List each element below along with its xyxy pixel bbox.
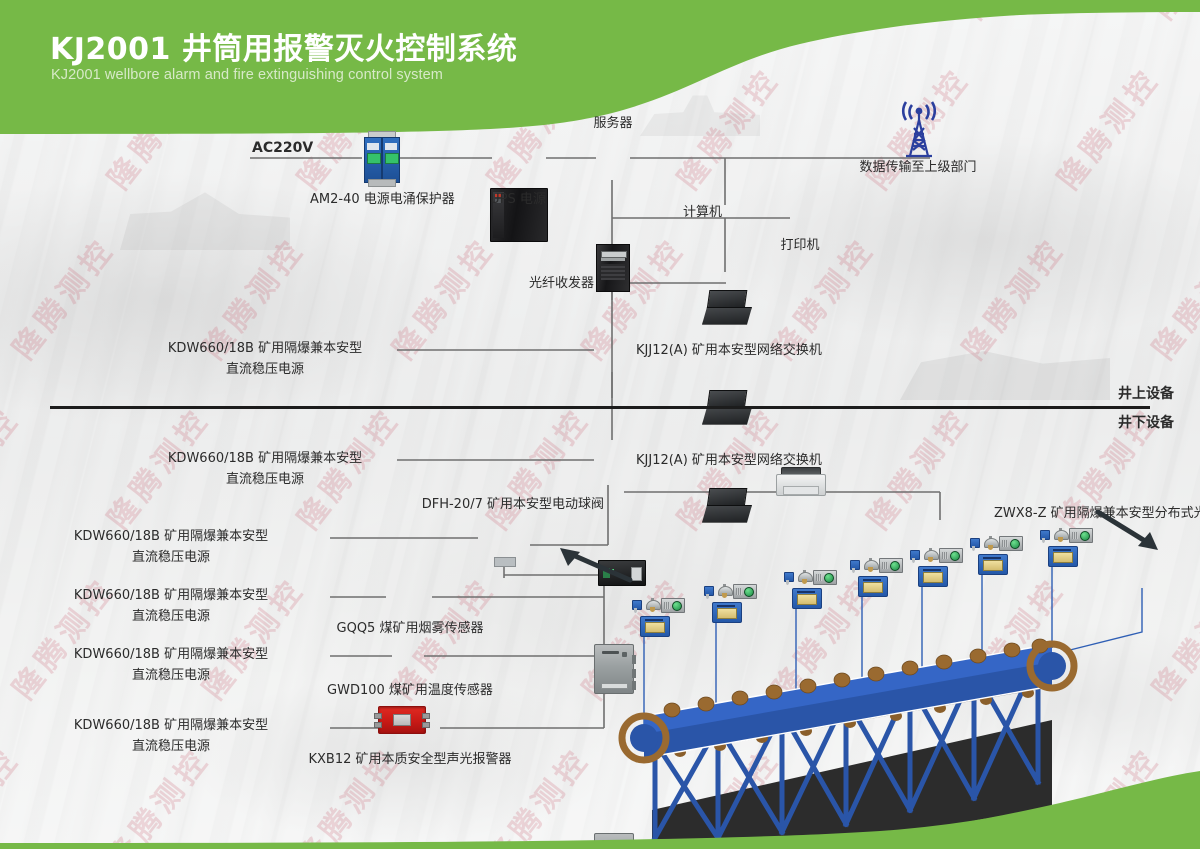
power-supply-lug-1 — [374, 713, 382, 719]
network-switch-underground-label: KJJ12(A) 矿用本安型网络交换机 — [636, 451, 822, 470]
temperature-sensor-label: GWD100 煤矿用温度传感器 — [320, 681, 500, 700]
power-supply-underground-3-label: KDW660/18B 矿用隔爆兼本安型 直流稳压电源 — [66, 585, 276, 627]
valve-actuator — [494, 557, 516, 567]
node-smoke-sensor-icon — [864, 558, 877, 573]
node-temperature-sensor-icon — [848, 560, 859, 573]
power-supply-surface — [378, 706, 426, 734]
psu-label-line2: 直流稳压电源 — [66, 547, 276, 568]
server-vent — [601, 264, 625, 280]
sprinkler-node-5 — [906, 546, 966, 588]
node-temperature-sensor-icon — [782, 572, 793, 585]
computer-laptop-3 — [702, 488, 750, 522]
node-controller-box — [640, 616, 670, 637]
background-machinery-2 — [120, 190, 290, 250]
laptop-screen — [706, 290, 747, 310]
node-temperature-sensor-icon — [630, 600, 641, 613]
valve-label: DFH-20/7 矿用本安型电动球阀 — [360, 495, 604, 514]
antenna-tower-icon — [888, 98, 950, 160]
node-smoke-sensor-icon — [1054, 528, 1067, 543]
sound-light-alarm-label: KXB12 矿用本质安全型声光报警器 — [300, 750, 520, 769]
ground-divider-line — [50, 406, 1150, 409]
smoke-sensor-label: GQQ5 煤矿用烟雾传感器 — [330, 619, 490, 638]
node-controller-box — [792, 588, 822, 609]
media-converter-label: 光纤收发器 — [500, 274, 594, 293]
node-alarm-icon — [999, 536, 1023, 551]
node-smoke-sensor-icon — [718, 584, 731, 599]
power-supply-window — [393, 714, 412, 726]
psu-label-line2: 直流稳压电源 — [160, 359, 370, 380]
psu-label-line1: KDW660/18B 矿用隔爆兼本安型 — [160, 338, 370, 359]
sprinkler-node-2 — [700, 582, 760, 624]
power-supply-surface-label: KDW660/18B 矿用隔爆兼本安型 直流稳压电源 — [160, 338, 370, 380]
spd-label: AM2-40 电源电涌保护器 — [310, 190, 452, 209]
power-supply-lug-4 — [422, 722, 430, 728]
power-supply-underground-5-label: KDW660/18B 矿用隔爆兼本安型 直流稳压电源 — [66, 715, 276, 757]
psu-label-line2: 直流稳压电源 — [160, 469, 370, 490]
node-smoke-sensor-icon — [798, 570, 811, 585]
node-controller-box — [978, 554, 1008, 575]
node-alarm-icon — [661, 598, 685, 613]
node-temperature-sensor-icon — [1038, 530, 1049, 543]
computer-laptop-1 — [702, 290, 750, 324]
spd-foot — [368, 179, 396, 187]
laptop-screen — [706, 488, 747, 508]
uplink-label: 数据传输至上级部门 — [848, 158, 988, 177]
node-alarm-icon — [939, 548, 963, 563]
power-supply-lug-3 — [422, 713, 430, 719]
above-ground-label: 井上设备 — [1118, 385, 1174, 404]
psu-label-line1: KDW660/18B 矿用隔爆兼本安型 — [66, 715, 276, 736]
spd-device-am2-40 — [362, 131, 400, 187]
psu-label-line2: 直流稳压电源 — [66, 606, 276, 627]
sprinkler-node-3 — [780, 568, 840, 610]
background-machinery-1 — [640, 92, 760, 136]
node-smoke-sensor-icon — [924, 548, 937, 563]
node-temperature-sensor-icon — [702, 586, 713, 599]
sprinkler-node-6 — [966, 534, 1026, 576]
node-alarm-icon — [1069, 528, 1093, 543]
node-alarm-icon — [813, 570, 837, 585]
ups-label: UPS 电源 — [472, 190, 564, 209]
psu-label-line1: KDW660/18B 矿用隔爆兼本安型 — [66, 585, 276, 606]
node-controller-box — [858, 576, 888, 597]
psu-label-line2: 直流稳压电源 — [66, 665, 276, 686]
psu-label-line1: KDW660/18B 矿用隔爆兼本安型 — [160, 448, 370, 469]
power-supply-lug-2 — [374, 722, 382, 728]
spd-module-right — [382, 137, 401, 184]
node-temperature-sensor-icon — [908, 550, 919, 563]
printer-device — [776, 466, 824, 498]
node-temperature-sensor-icon — [968, 538, 979, 551]
node-controller-box — [1048, 546, 1078, 567]
power-supply-underground-1-label: KDW660/18B 矿用隔爆兼本安型 直流稳压电源 — [160, 448, 370, 490]
psu-label-line1: KDW660/18B 矿用隔爆兼本安型 — [66, 644, 276, 665]
psu-label-line1: KDW660/18B 矿用隔爆兼本安型 — [66, 526, 276, 547]
below-ground-label: 井下设备 — [1118, 414, 1174, 433]
power-supply-underground-2-label: KDW660/18B 矿用隔爆兼本安型 直流稳压电源 — [66, 526, 276, 568]
server-label: 服务器 — [578, 114, 648, 133]
node-smoke-sensor-icon — [646, 598, 659, 613]
laptop-base — [702, 407, 752, 425]
sprinkler-node-1 — [628, 596, 688, 638]
diagram-canvas: 隆腾测控隆腾测控隆腾测控隆腾测控隆腾测控隆腾测控隆腾测控隆腾测控隆腾测控隆腾测控… — [0, 0, 1200, 849]
psu-label-line2: 直流稳压电源 — [66, 736, 276, 757]
node-smoke-sensor-icon — [984, 536, 997, 551]
ac220v-label: AC220V — [252, 139, 313, 158]
page-title: KJ2001 井筒用报警灭火控制系统 — [50, 24, 517, 68]
node-alarm-icon — [879, 558, 903, 573]
node-controller-box — [918, 566, 948, 587]
computer-label: 计算机 — [648, 203, 722, 222]
server-device — [596, 244, 630, 292]
node-alarm-icon — [733, 584, 757, 599]
page-subtitle: KJ2001 wellbore alarm and fire extinguis… — [51, 67, 443, 83]
laptop-base — [702, 307, 752, 325]
printer-label: 打印机 — [766, 236, 834, 255]
server-drive-bay-2 — [601, 258, 625, 261]
sprinkler-node-4 — [846, 556, 906, 598]
power-supply-underground-4-label: KDW660/18B 矿用隔爆兼本安型 直流稳压电源 — [66, 644, 276, 686]
sprinkler-node-7 — [1036, 526, 1096, 568]
printer-tray — [783, 486, 820, 495]
background-machinery-3 — [900, 330, 1110, 400]
node-controller-box — [712, 602, 742, 623]
network-switch-surface-label: KJJ12(A) 矿用本安型网络交换机 — [636, 341, 822, 360]
spd-module-left — [364, 137, 383, 184]
